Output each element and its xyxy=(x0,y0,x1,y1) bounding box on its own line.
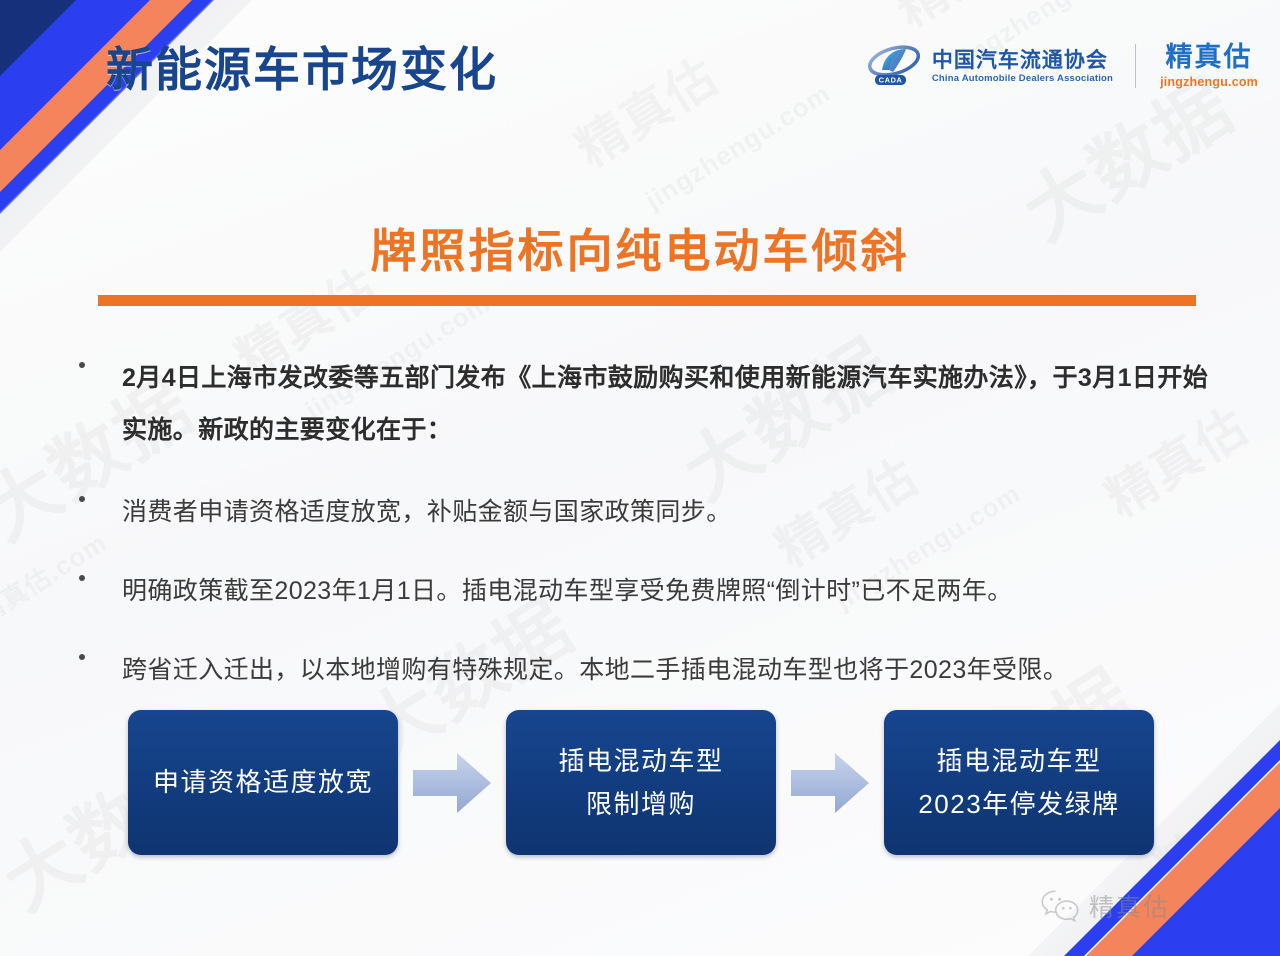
cada-en-name: China Automobile Dealers Association xyxy=(932,74,1113,84)
flow-arrow-1 xyxy=(398,750,506,816)
section-heading: 牌照指标向纯电动车倾斜 xyxy=(0,215,1280,281)
arrow-right-icon xyxy=(791,750,869,816)
jingzhengu-cn-name: 精真估 xyxy=(1166,44,1253,71)
list-item: 明确政策截至2023年1月1日。插电混动车型享受免费牌照“倒计时”已不足两年。 xyxy=(0,565,1280,617)
watermark-text: 精真估 xyxy=(1140,757,1280,901)
list-item-text: 2月4日上海市发改委等五部门发布《上海市鼓励购买和使用新能源汽车实施办法》，于3… xyxy=(122,364,1208,444)
flow-step-2: 插电混动车型 限制增购 xyxy=(506,710,776,855)
jingzhengu-logo: 精真估 jingzhengu.com xyxy=(1136,44,1258,89)
flow-step-3-line2: 2023年停发绿牌 xyxy=(918,783,1119,826)
svg-text:CADA: CADA xyxy=(878,76,902,85)
bullet-dot-icon xyxy=(79,362,85,368)
wechat-icon xyxy=(1040,889,1080,923)
bullet-list: 2月4日上海市发改委等五部门发布《上海市鼓励购买和使用新能源汽车实施办法》，于3… xyxy=(0,352,1280,696)
flow-step-2-line2: 限制增购 xyxy=(586,783,696,826)
slide-header: 新能源车市场变化 xyxy=(0,0,1280,150)
jingzhengu-domain: jingzhengu.com xyxy=(1160,76,1258,89)
cada-logo: CADA 中国汽车流通协会 China Automobile Dealers A… xyxy=(867,44,1135,88)
list-item-text: 跨省迁入迁出，以本地增购有特殊规定。本地二手插电混动车型也将于2023年受限。 xyxy=(122,656,1068,684)
orange-divider xyxy=(98,295,1196,306)
arrow-right-icon xyxy=(413,750,491,816)
flow-step-1: 申请资格适度放宽 xyxy=(128,710,398,855)
slide-root: 大数据 精真估.com 大数据 精真估 jingzhengu.com 大数据 精… xyxy=(0,0,1280,956)
flow-step-3-line1: 插电混动车型 xyxy=(936,740,1101,783)
cada-text: 中国汽车流通协会 China Automobile Dealers Associ… xyxy=(932,50,1113,84)
bullet-dot-icon xyxy=(79,654,85,660)
flow-step-3: 插电混动车型 2023年停发绿牌 xyxy=(884,710,1154,855)
cada-emblem-icon: CADA xyxy=(867,44,923,88)
page-title: 新能源车市场变化 xyxy=(106,41,498,100)
list-item-text: 消费者申请资格适度放宽，补贴金额与国家政策同步。 xyxy=(122,498,732,526)
flow-arrow-2 xyxy=(776,750,884,816)
flow-step-2-line1: 插电混动车型 xyxy=(558,740,723,783)
logo-block: CADA 中国汽车流通协会 China Automobile Dealers A… xyxy=(867,44,1258,89)
cada-cn-name: 中国汽车流通协会 xyxy=(932,50,1113,71)
bullet-dot-icon xyxy=(79,496,85,502)
flow-step-1-line1: 申请资格适度放宽 xyxy=(153,761,373,804)
list-item: 跨省迁入迁出，以本地增购有特殊规定。本地二手插电混动车型也将于2023年受限。 xyxy=(0,644,1280,696)
list-item-text: 明确政策截至2023年1月1日。插电混动车型享受免费牌照“倒计时”已不足两年。 xyxy=(122,577,1013,605)
list-item: 消费者申请资格适度放宽，补贴金额与国家政策同步。 xyxy=(0,486,1280,538)
flow-diagram: 申请资格适度放宽 插电混动车型 限制增购 xyxy=(128,710,1154,855)
bullet-dot-icon xyxy=(79,575,85,581)
wechat-footer: 精真估 xyxy=(1040,888,1170,924)
wechat-label: 精真估 xyxy=(1089,888,1170,924)
list-item: 2月4日上海市发改委等五部门发布《上海市鼓励购买和使用新能源汽车实施办法》，于3… xyxy=(0,352,1280,456)
